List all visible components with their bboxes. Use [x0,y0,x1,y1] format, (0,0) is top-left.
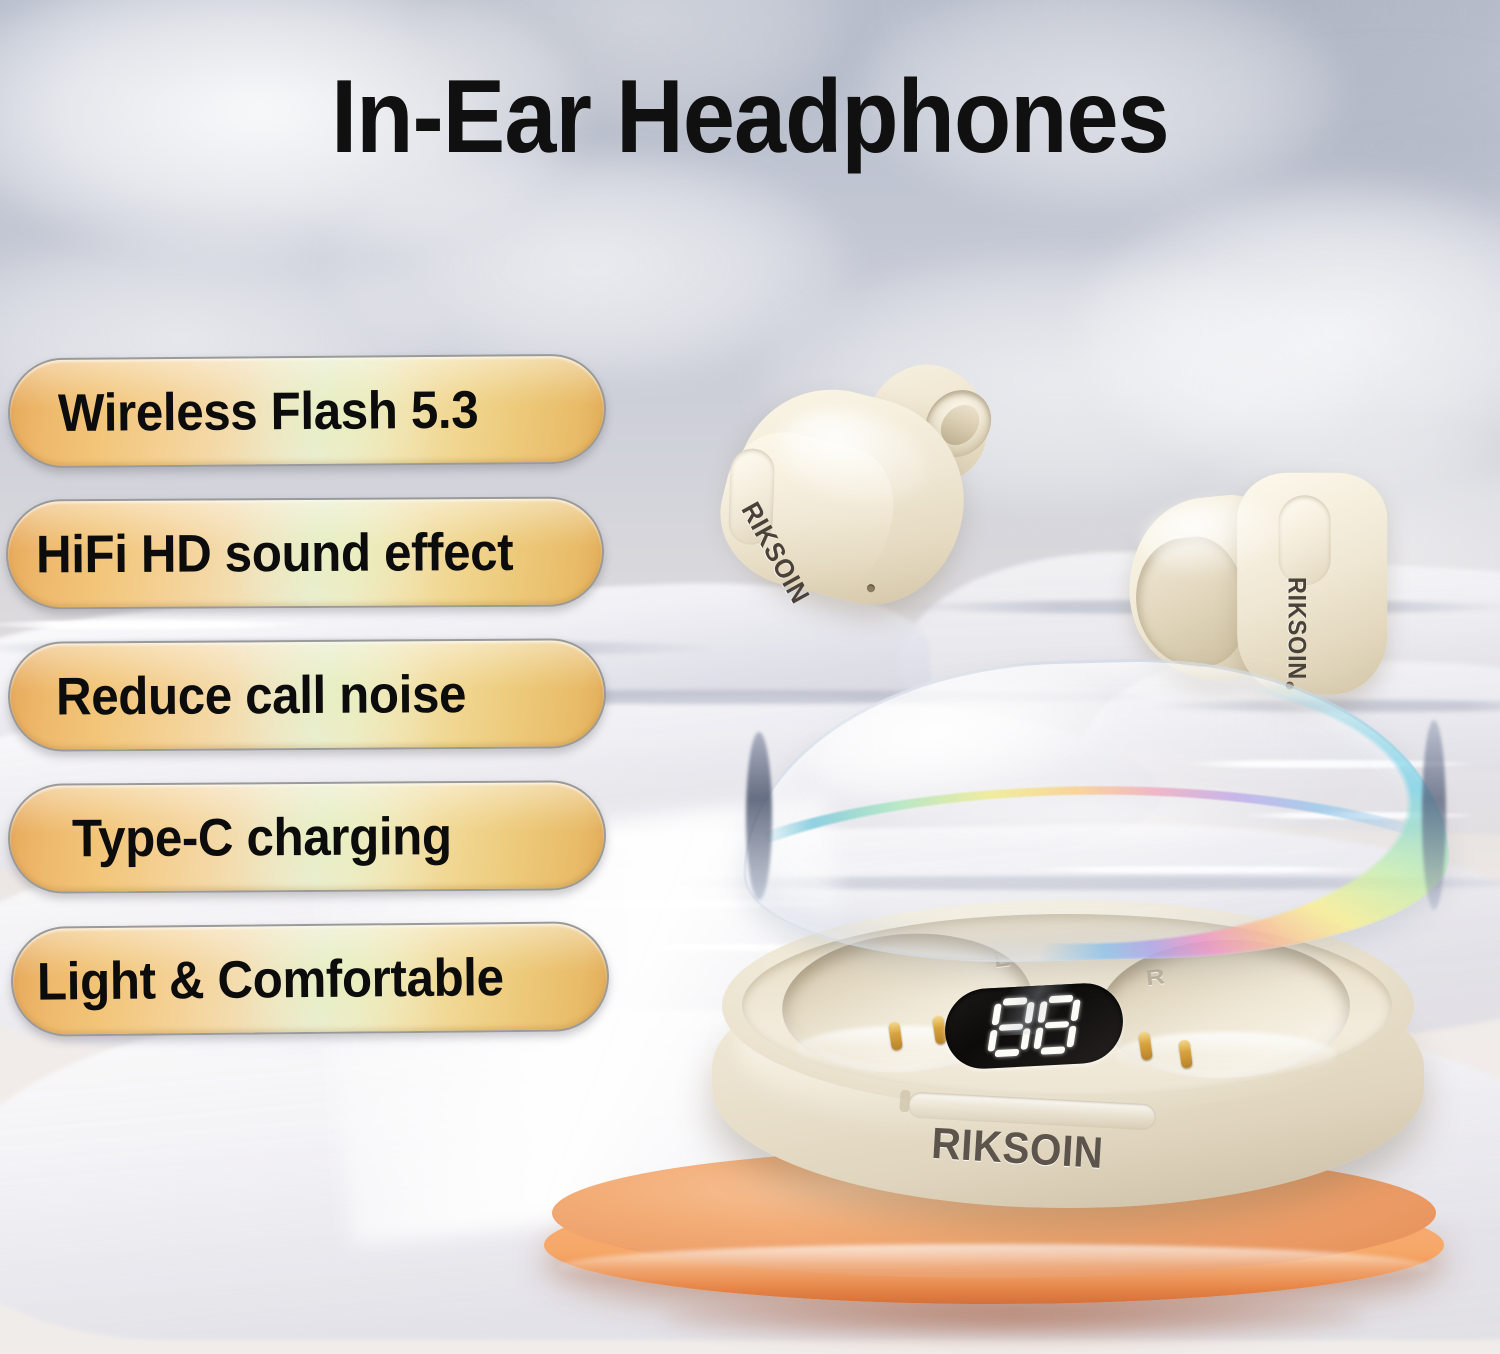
lid-highlight [892,780,1312,850]
product-pedestal [544,1148,1444,1328]
backdrop-streak [1020,866,1380,873]
case-shell [712,948,1424,1208]
earbud-left-tip [854,352,1000,494]
feature-badge: HiFi HD sound effect [6,496,605,609]
transparent-case-lid [742,660,1448,960]
led-battery-display [945,981,1123,1070]
feature-badge: Type-C charging [8,780,607,894]
cloud [760,250,1360,510]
feature-badge: Wireless Flash 5.3 [8,354,607,469]
case-front-groove [907,1092,1156,1131]
feature-badge-label: Light & Comfortable [37,951,504,1008]
earbud-right: RIKSOIN [1115,464,1410,723]
earbud-right-touch-panel [1279,495,1331,585]
slot-marker-right: R [1145,964,1167,992]
feature-badge-label: Wireless Flash 5.3 [58,383,479,439]
led-digit [1032,994,1081,1055]
earbud-left-touch-panel [728,448,775,545]
earbud-well-right [1098,936,1353,1083]
earbud-left-nozzle [912,377,1004,470]
earbud-left-stem [705,420,906,607]
slot-marker-left: L [993,946,1012,973]
earbud-right-microphone-port [1285,681,1294,690]
backdrop-streak [1240,812,1480,819]
earbud-right-stem [1237,473,1387,695]
case-inner-rim [742,914,1392,1096]
charging-pin [1138,1031,1153,1060]
backdrop-shade [1150,700,1500,712]
earbud-left-nozzle-bore [933,397,987,453]
earbud-right-dome [1120,488,1314,689]
backdrop-fold [895,540,1500,781]
page-title: In-Ear Headphones [75,62,1425,172]
earbud-well-left-lip [796,1026,1018,1072]
backdrop-streak [620,944,860,951]
cloud [330,150,850,380]
cloud [1180,430,1500,650]
led-glass-glare [945,981,1123,1040]
feature-badge: Light & Comfortable [10,921,609,1037]
backdrop-fold [0,1010,1500,1340]
product-marketing-canvas: In-Ear Headphones Wireless Flash 5.3 HiF… [0,0,1500,1354]
lid-edge-left [746,732,772,900]
feature-badge-label: Reduce call noise [56,668,466,724]
earbud-well-right-lip [1114,1032,1336,1078]
pedestal-surface [552,1148,1436,1278]
case-hinge-notch [899,1090,911,1113]
earbud-left-body [713,370,986,624]
lid-edge-right [1422,720,1446,910]
earbud-left-brand-logo: RIKSOIN [735,497,816,609]
led-digit [986,997,1035,1058]
charging-case: L R RIKSOIN [712,900,1424,1220]
earbud-right-highlight [1136,492,1283,578]
backdrop-shade [620,876,1500,890]
lid-dome [738,651,1452,969]
backdrop-fold [1077,650,1500,839]
pedestal-shadow [664,1296,1364,1340]
feature-badge-label: Type-C charging [72,810,452,865]
charging-pin [1178,1039,1193,1068]
case-shell-highlight [736,962,1256,1132]
earbud-left-microphone-port [866,583,876,593]
backdrop-shade [900,600,1500,614]
earbud-right-brand-logo: RIKSOIN [1281,577,1310,680]
lid-highlight [804,654,1120,822]
case-top-surface [722,900,1414,1112]
lid-iridescent-arc [762,718,1438,928]
backdrop-streak [1180,760,1480,768]
charging-pin [888,1021,903,1050]
case-brand-logo: RIKSOIN [930,1119,1105,1179]
cloud [1080,180,1500,480]
feature-badge-label: HiFi HD sound effect [36,525,514,580]
lid-iridescent-rim [738,651,1452,969]
feature-badge-list: Wireless Flash 5.3 HiFi HD sound effect … [0,356,640,1034]
feature-badge: Reduce call noise [8,638,607,752]
earbud-right-dome-inner [1130,532,1253,673]
earbud-left: RIKSOIN [682,311,1034,655]
pedestal-rim-highlight [558,1244,1430,1290]
charging-pin [932,1015,947,1044]
earbud-left-highlight [770,395,937,517]
pedestal-body [544,1186,1444,1304]
earbud-well-left [777,925,1036,1080]
